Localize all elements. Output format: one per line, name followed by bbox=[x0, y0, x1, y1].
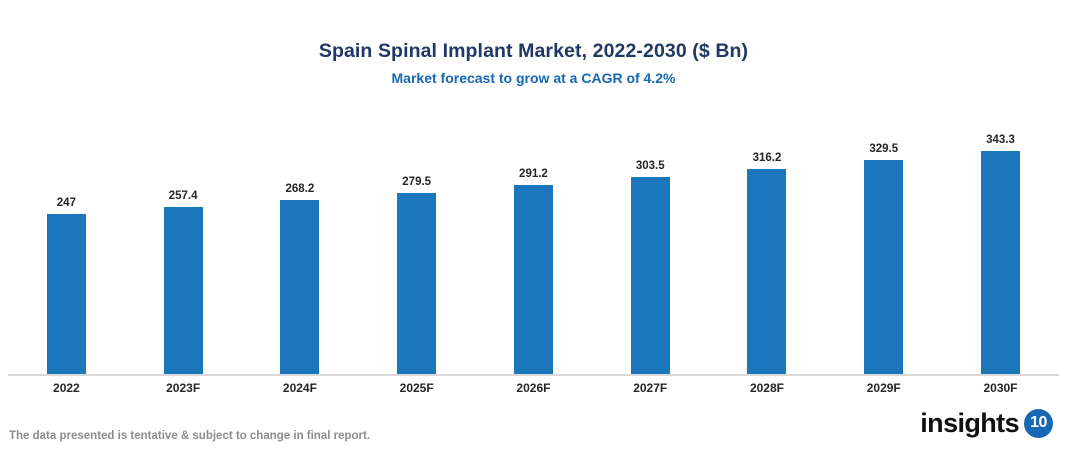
x-tick-label: 2025F bbox=[359, 380, 475, 396]
logo-wordmark: insights bbox=[920, 408, 1019, 438]
bar-value-label: 247 bbox=[57, 197, 76, 210]
x-tick-label: 2030F bbox=[943, 380, 1059, 396]
bar-group: 329.5 bbox=[826, 110, 942, 375]
disclaimer-text: The data presented is tentative & subjec… bbox=[9, 428, 370, 444]
chart-figure: Spain Spinal Implant Market, 2022-2030 (… bbox=[0, 0, 1067, 454]
bar-value-label: 343.3 bbox=[986, 134, 1015, 147]
bar-rect bbox=[514, 185, 553, 375]
bar-group: 257.4 bbox=[125, 110, 241, 375]
bar-group: 316.2 bbox=[709, 110, 825, 375]
bar-rect bbox=[981, 151, 1020, 375]
bar-value-label: 257.4 bbox=[169, 190, 198, 203]
x-axis-labels: 2022 2023F 2024F 2025F 2026F 2027F 2028F… bbox=[8, 380, 1059, 396]
bar-group: 268.2 bbox=[242, 110, 358, 375]
x-tick-label: 2028F bbox=[709, 380, 825, 396]
bar-value-label: 316.2 bbox=[753, 152, 782, 165]
x-tick-label: 2029F bbox=[826, 380, 942, 396]
bar-value-label: 329.5 bbox=[869, 143, 898, 156]
chart-title: Spain Spinal Implant Market, 2022-2030 (… bbox=[0, 38, 1067, 64]
bar-series: 247 257.4 268.2 279.5 291.2 303.5 bbox=[8, 110, 1059, 375]
bar-group: 291.2 bbox=[475, 110, 591, 375]
bar-rect bbox=[397, 193, 436, 375]
x-tick-label: 2023F bbox=[125, 380, 241, 396]
plot-area: 247 257.4 268.2 279.5 291.2 303.5 bbox=[8, 110, 1059, 376]
bar-value-label: 303.5 bbox=[636, 160, 665, 173]
x-axis-line bbox=[8, 374, 1059, 376]
x-tick-label: 2024F bbox=[242, 380, 358, 396]
bar-rect bbox=[164, 207, 203, 375]
bar-group: 303.5 bbox=[592, 110, 708, 375]
bar-rect bbox=[47, 214, 86, 375]
insights10-logo: insights 10 bbox=[920, 408, 1053, 438]
bar-rect bbox=[864, 160, 903, 375]
x-tick-label: 2022 bbox=[8, 380, 124, 396]
bar-value-label: 279.5 bbox=[402, 176, 431, 189]
bar-group: 343.3 bbox=[943, 110, 1059, 375]
bar-group: 279.5 bbox=[359, 110, 475, 375]
bar-rect bbox=[631, 177, 670, 375]
bar-value-label: 291.2 bbox=[519, 168, 548, 181]
bar-rect bbox=[280, 200, 319, 375]
bar-value-label: 268.2 bbox=[286, 183, 315, 196]
bar-rect bbox=[747, 169, 786, 375]
logo-badge-icon: 10 bbox=[1024, 409, 1053, 438]
x-tick-label: 2027F bbox=[592, 380, 708, 396]
x-tick-label: 2026F bbox=[475, 380, 591, 396]
chart-header: Spain Spinal Implant Market, 2022-2030 (… bbox=[0, 38, 1067, 89]
chart-subtitle: Market forecast to grow at a CAGR of 4.2… bbox=[0, 67, 1067, 89]
bar-group: 247 bbox=[8, 110, 124, 375]
